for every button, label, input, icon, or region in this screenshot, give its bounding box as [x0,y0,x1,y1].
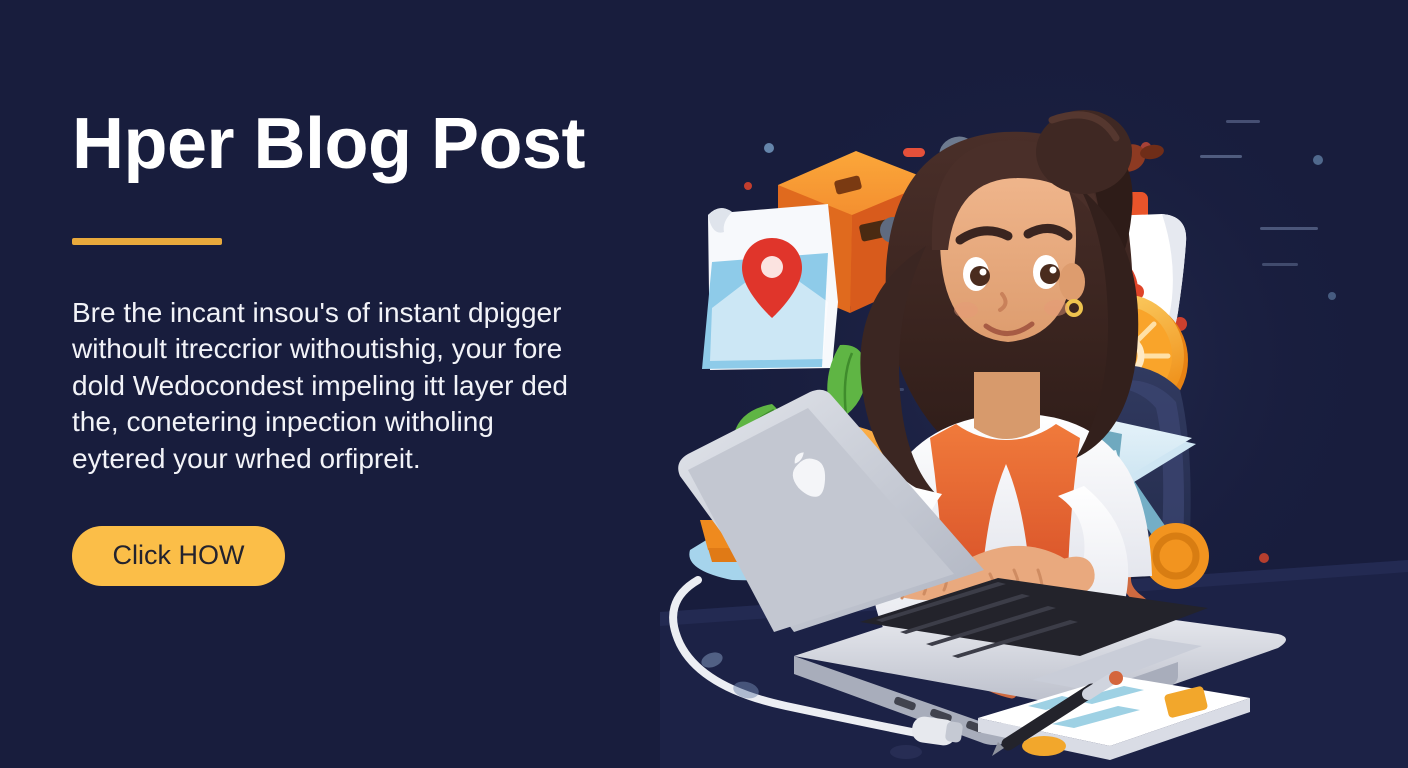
accent-divider [72,238,222,245]
page-title: Hper Blog Post [72,108,632,180]
copy-block: Hper Blog Post Bre the incant insou's of… [72,108,632,586]
hero-illustration [660,0,1408,768]
hero-banner: Hper Blog Post Bre the incant insou's of… [0,0,1408,768]
body-paragraph: Bre the incant insou's of instant dpigge… [72,295,592,477]
cta-button[interactable]: Click HOW [72,526,285,586]
